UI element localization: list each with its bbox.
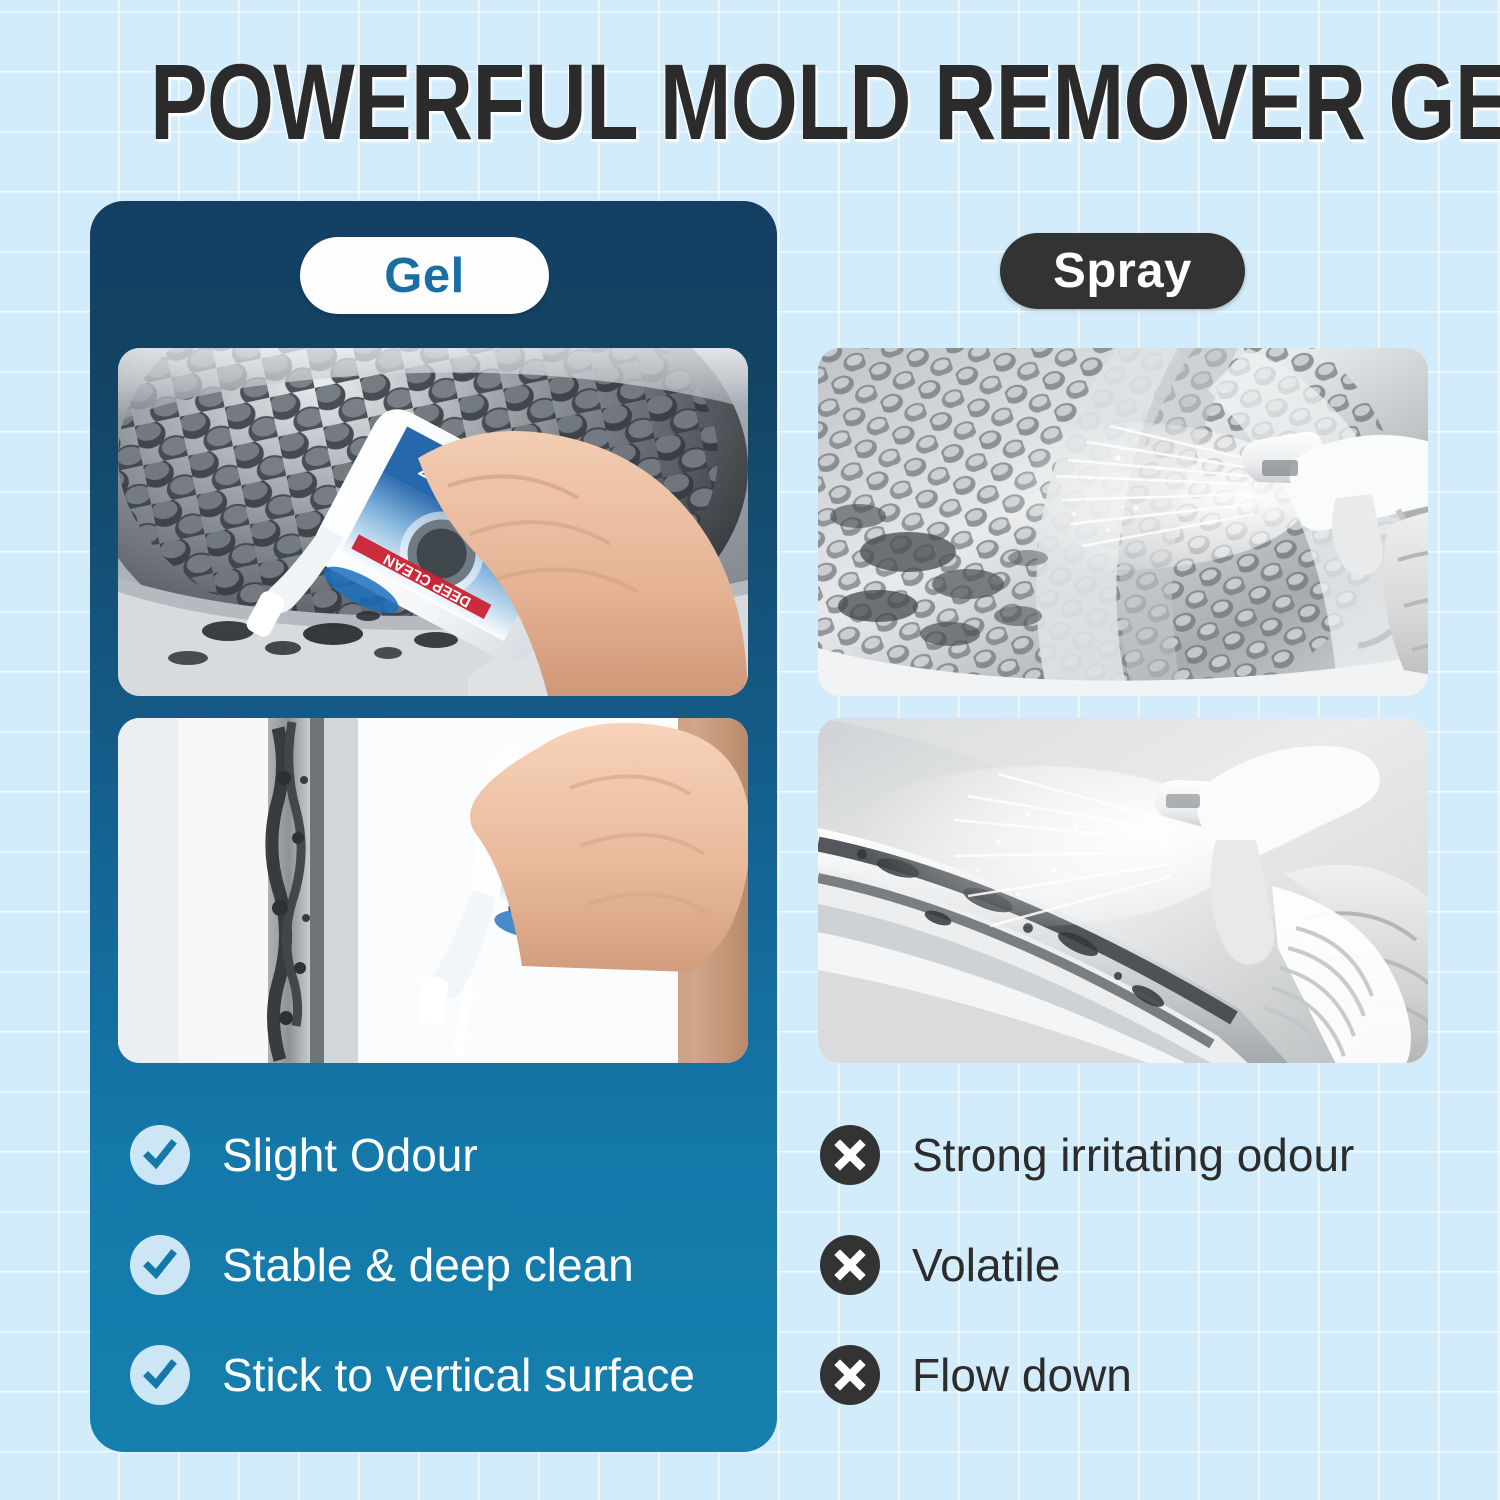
cross-icon [820,1125,880,1185]
feature-label: Strong irritating odour [912,1130,1354,1180]
gel-badge[interactable]: Gel [300,237,549,314]
list-item: Strong irritating odour [820,1100,1440,1210]
spray-feature-list: Strong irritating odour Volatile Flow do… [820,1100,1440,1430]
check-icon [130,1125,190,1185]
check-icon [130,1345,190,1405]
cross-icon [820,1345,880,1405]
gel-feature-list: Slight Odour Stable & deep clean Stick t… [130,1100,760,1430]
check-icon [130,1235,190,1295]
spray-badge-label: Spray [1053,243,1192,299]
page-title: POWERFUL MOLD REMOVER GEL [150,46,1350,158]
photo-gel-drum: NET 12 FL OZ DEEP CLEAN [118,348,748,696]
spray-badge[interactable]: Spray [1000,233,1245,309]
gel-badge-label: Gel [384,248,464,304]
cross-icon [820,1235,880,1295]
photo-spray-seal [818,718,1428,1063]
list-item: Stick to vertical surface [130,1320,760,1430]
feature-label: Volatile [912,1240,1060,1290]
list-item: Volatile [820,1210,1440,1320]
photo-spray-drum [818,348,1428,696]
feature-label: Slight Odour [222,1130,478,1180]
list-item: Slight Odour [130,1100,760,1210]
feature-label: Stick to vertical surface [222,1350,695,1400]
feature-label: Flow down [912,1350,1132,1400]
list-item: Flow down [820,1320,1440,1430]
photo-gel-seal: DEEP CLEAN CLEANER [118,718,748,1063]
list-item: Stable & deep clean [130,1210,760,1320]
feature-label: Stable & deep clean [222,1240,634,1290]
